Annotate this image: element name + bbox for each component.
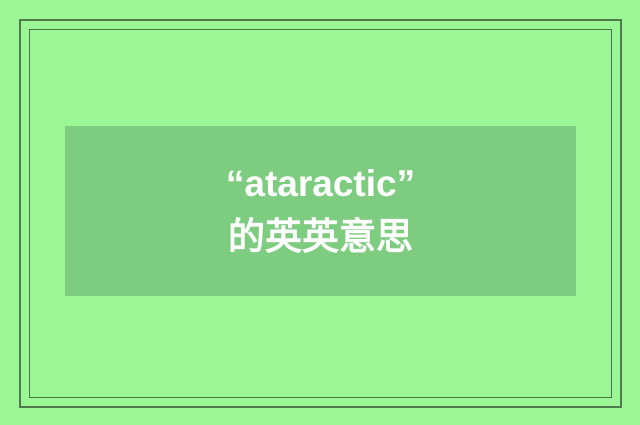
page-title: “ataractic” 的英英意思: [218, 158, 423, 263]
page-canvas: “ataractic” 的英英意思: [0, 0, 640, 425]
title-panel: “ataractic” 的英英意思: [65, 126, 576, 296]
